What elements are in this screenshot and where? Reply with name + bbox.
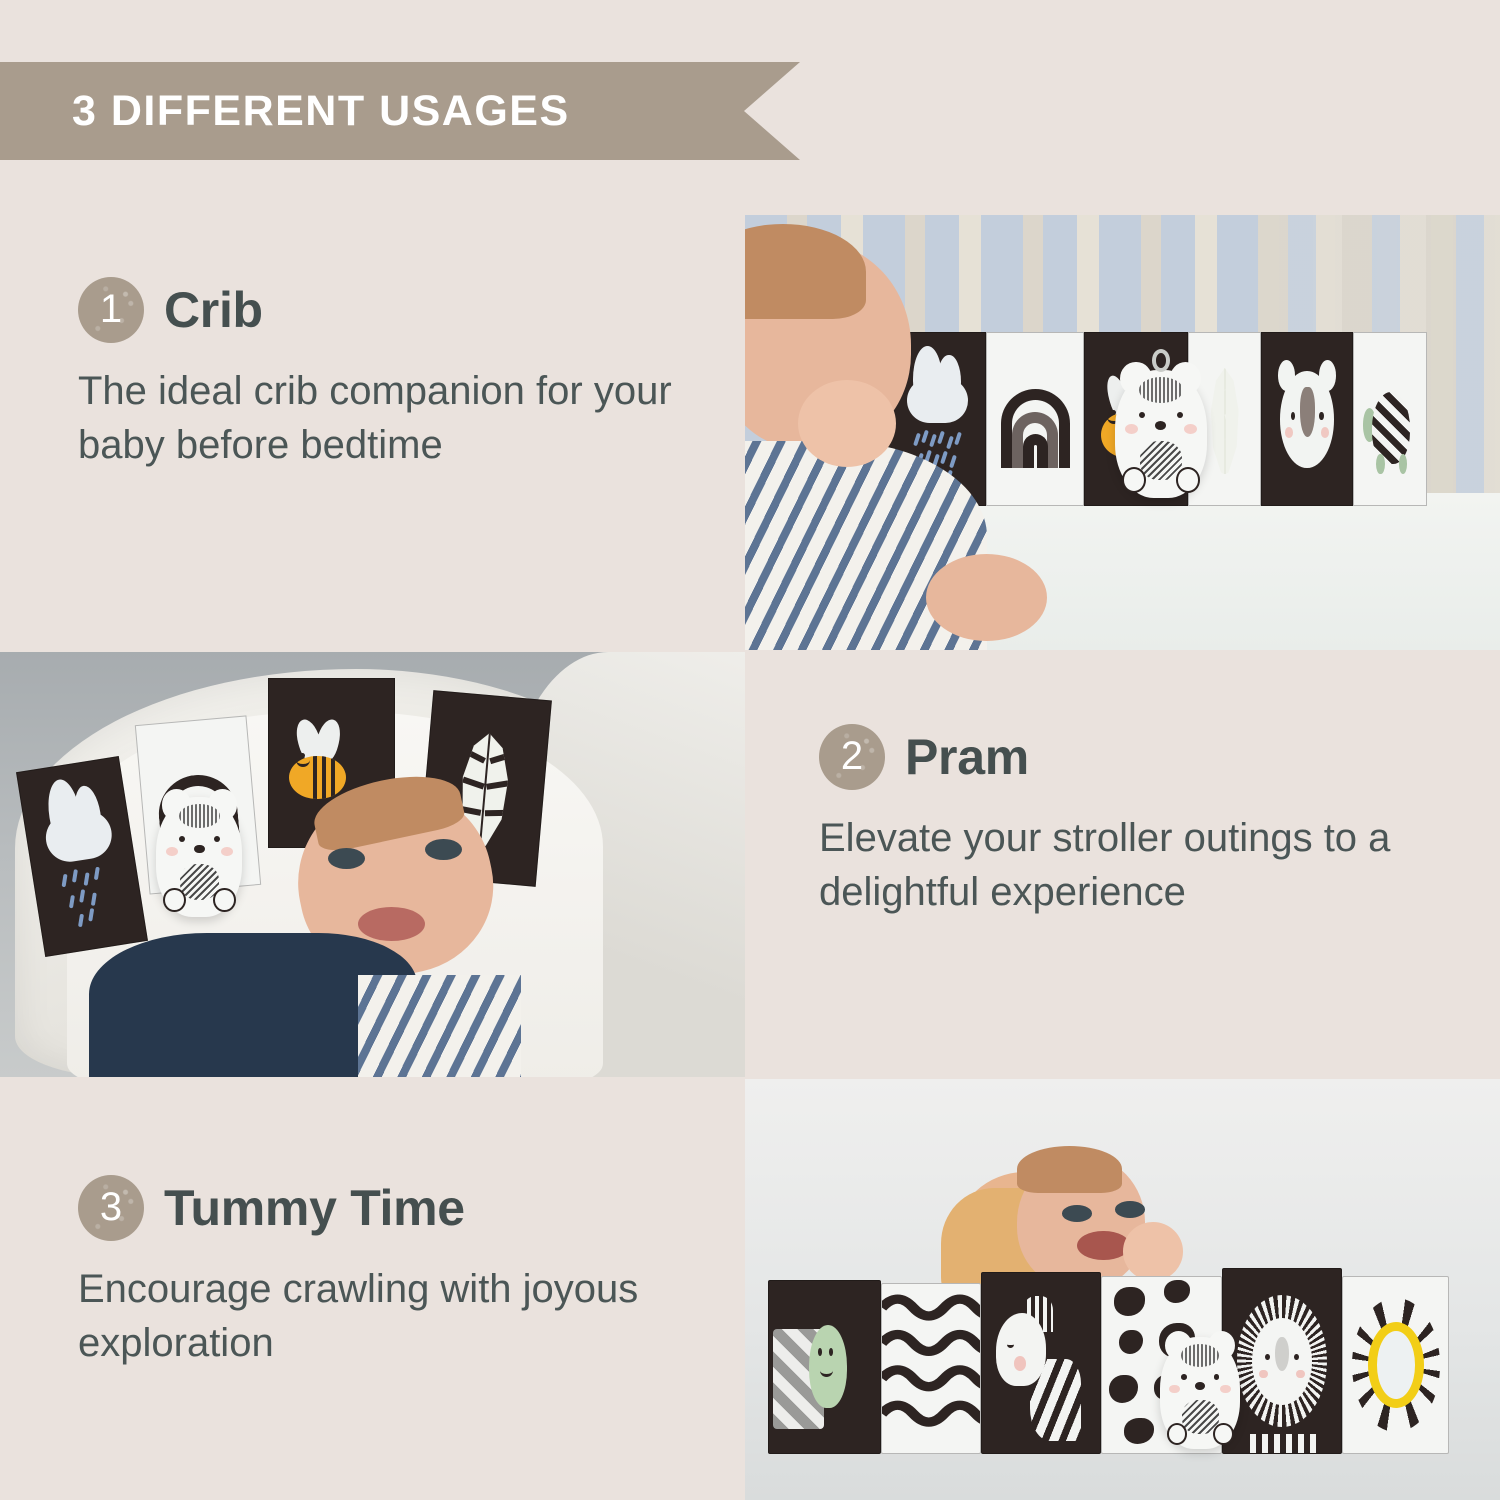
crib-photo <box>745 215 1500 650</box>
baby-open-mouth <box>1077 1231 1130 1260</box>
header-ribbon: 3 DIFFERENT USAGES <box>0 62 800 160</box>
baby-eye-right <box>1115 1201 1145 1218</box>
section-description-2: Elevate your stroller outings to a delig… <box>819 812 1446 919</box>
section-heading-row-3: 3 Tummy Time <box>78 1175 691 1241</box>
baby-hand-raised <box>798 380 896 467</box>
section-description-1: The ideal crib companion for your baby b… <box>78 365 691 472</box>
section-block-tummy-time: 3 Tummy Time Encourage crawling with joy… <box>0 1079 745 1500</box>
section-title-2: Pram <box>905 728 1029 786</box>
baby-eye-left <box>328 848 365 869</box>
section-heading-row-2: 2 Pram <box>819 724 1446 790</box>
waves-pattern-icon <box>882 1284 979 1452</box>
mirror-ring <box>1368 1322 1424 1408</box>
bear-face-icon <box>1280 371 1334 467</box>
lion-icon <box>1237 1295 1327 1427</box>
baby-hair <box>1017 1146 1123 1192</box>
panel-zebra-icon <box>981 1272 1102 1454</box>
crib-scene <box>745 215 1500 650</box>
baby-mouth <box>358 907 425 941</box>
rain-icon <box>57 862 121 933</box>
baby-hand <box>926 554 1047 641</box>
section-block-pram: 2 Pram Elevate your stroller outings to … <box>745 652 1500 1077</box>
section-title-1: Crib <box>164 281 263 339</box>
panel-waves-pattern <box>881 1283 980 1453</box>
cloud-icon <box>43 807 115 865</box>
bear-plush-toy <box>1160 1337 1240 1449</box>
section-title-3: Tummy Time <box>164 1179 465 1237</box>
lion-stripe-base <box>1244 1434 1320 1452</box>
bear-plush-toy <box>156 797 242 917</box>
pram-scene <box>0 652 745 1077</box>
infographic-page: 3 DIFFERENT USAGES 1 Crib The ideal crib… <box>0 0 1500 1500</box>
turtle-icon <box>809 1325 847 1408</box>
section-block-crib: 1 Crib The ideal crib companion for your… <box>0 215 745 650</box>
turtle-icon <box>1363 392 1416 464</box>
tummy-time-photo <box>745 1079 1500 1500</box>
step-number-badge-2: 2 <box>819 724 885 790</box>
rainbow-icon <box>1001 389 1070 468</box>
bear-plush-toy <box>1115 370 1207 498</box>
panel-lion-icon <box>1222 1268 1343 1453</box>
panel-bear-face-icon <box>1261 332 1353 506</box>
baby-striped-sleeve <box>358 975 522 1077</box>
tummy-time-scene <box>745 1079 1500 1500</box>
step-number-badge-1: 1 <box>78 277 144 343</box>
bee-face-icon <box>296 753 315 774</box>
panel-sun-mirror-icon <box>1342 1276 1448 1454</box>
zebra-icon <box>996 1302 1086 1438</box>
sun-mirror-icon <box>1352 1298 1440 1432</box>
monstera-leaf-icon <box>1209 368 1240 475</box>
section-description-3: Encourage crawling with joyous explorati… <box>78 1263 691 1370</box>
fabric-book-panels-tummy-time <box>768 1268 1478 1453</box>
pram-photo <box>0 652 745 1077</box>
panel-turtle-icon <box>1353 332 1426 506</box>
baby-eye-right <box>425 839 462 860</box>
cloud-icon <box>907 378 968 423</box>
panel-turtle-icon <box>768 1280 882 1454</box>
panel-rainbow-icon <box>986 332 1084 506</box>
section-heading-row-1: 1 Crib <box>78 277 691 343</box>
step-number-badge-3: 3 <box>78 1175 144 1241</box>
header-title: 3 DIFFERENT USAGES <box>0 87 570 136</box>
